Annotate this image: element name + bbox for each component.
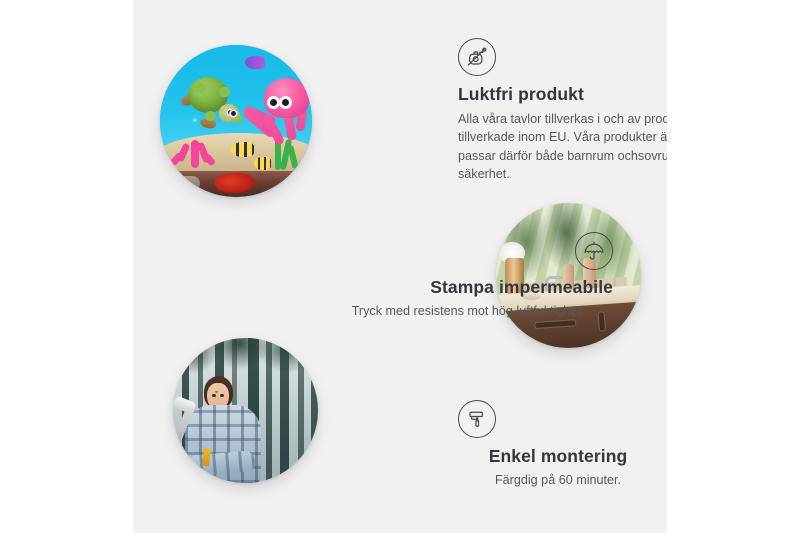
turtle — [180, 74, 241, 126]
fish — [254, 157, 271, 169]
umbrella-icon — [575, 232, 613, 270]
coral — [171, 129, 217, 169]
feature-image-odourless — [160, 45, 312, 197]
woman-with-paint-roller-forest-mural — [173, 338, 318, 483]
feature-title: Luktfri produkt — [458, 84, 667, 105]
feature-title: Stampa impermeabile — [323, 277, 613, 298]
feature-infographic: Luktfri produkt Alla våra tavlor tillver… — [0, 0, 800, 533]
feature-block-easy-installation: Enkel montering Färgdig på 60 minuter. — [433, 400, 667, 489]
fish — [245, 56, 265, 70]
feature-title: Enkel montering — [433, 446, 667, 467]
fish — [231, 142, 254, 157]
feature-description: Tryck med resistens mot hög luftfuktighe… — [323, 302, 613, 320]
octopus — [245, 78, 309, 148]
underwater-cartoon-scene — [160, 45, 312, 197]
woman — [182, 376, 263, 483]
no-fragrance-icon — [458, 38, 496, 76]
feature-block-waterproof: Stampa impermeabile Tryck med resistens … — [323, 232, 613, 320]
feature-image-easy-installation — [173, 338, 318, 483]
feature-description: Alla våra tavlor tillverkas i och av pro… — [458, 110, 667, 183]
feature-description: Färgdig på 60 minuter. — [433, 471, 667, 489]
paint-roller-icon — [458, 400, 496, 438]
feature-block-odourless: Luktfri produkt Alla våra tavlor tillver… — [458, 38, 667, 183]
content-panel: Luktfri produkt Alla våra tavlor tillver… — [133, 0, 667, 533]
